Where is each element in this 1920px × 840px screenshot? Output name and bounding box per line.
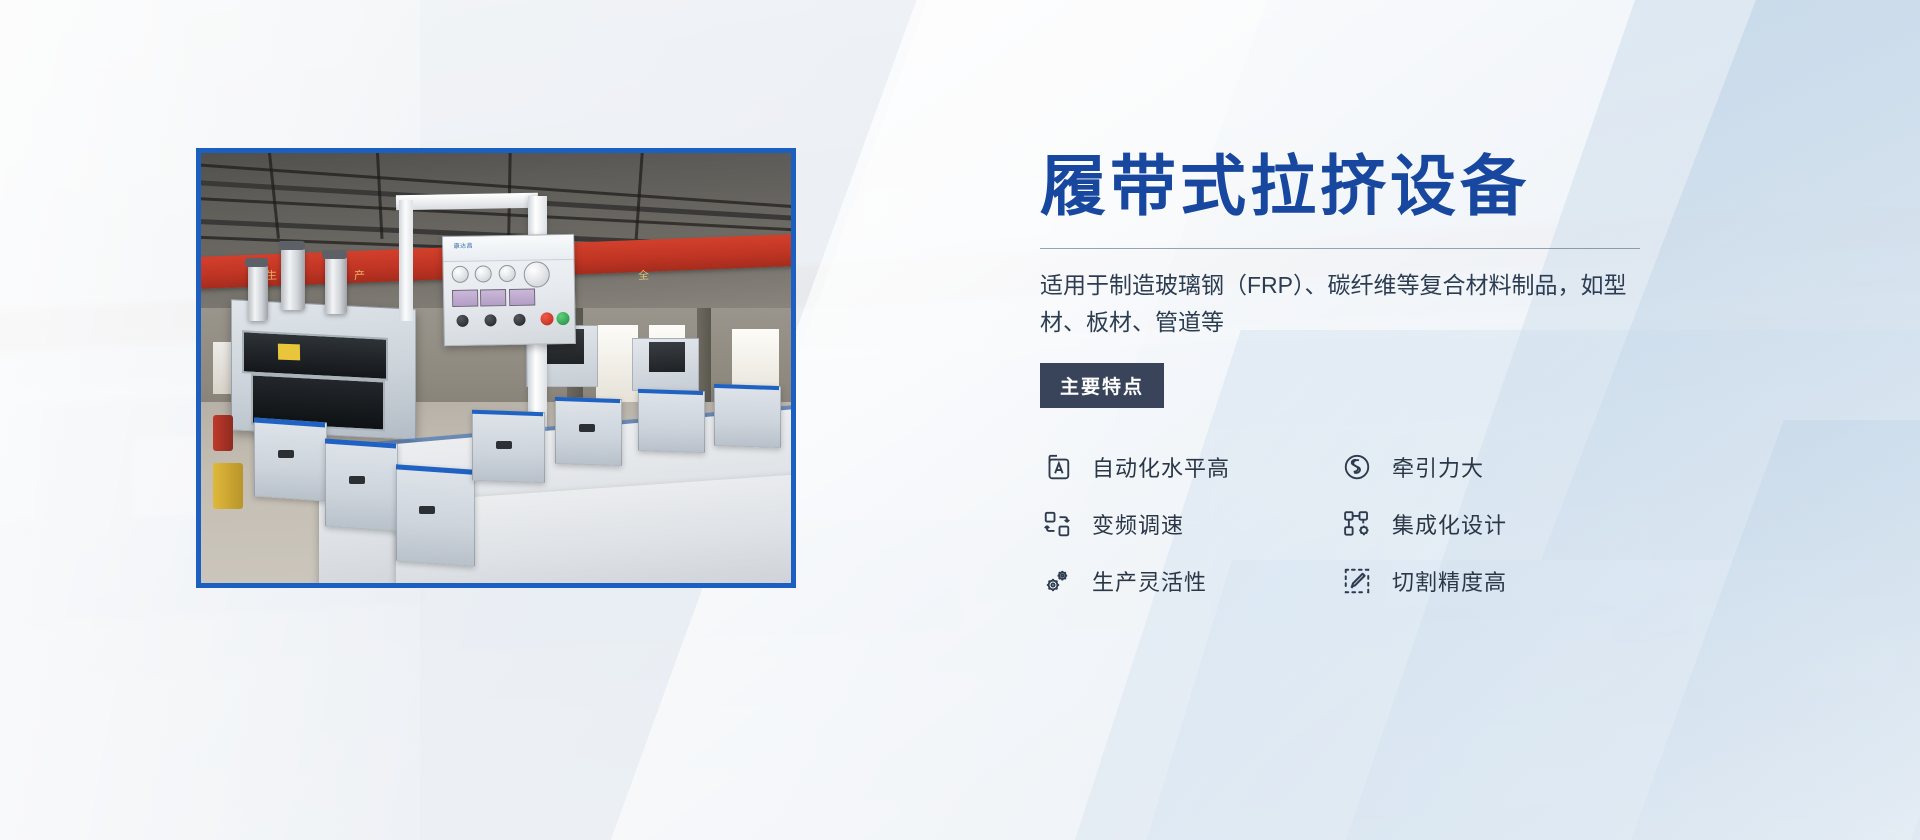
photo-gantry-post-left [399,200,413,320]
frequency-transform-icon [1040,507,1074,541]
title-divider [1040,248,1640,249]
photo-cabinet-7 [714,384,781,449]
bg-panel-3 [1459,720,1691,812]
panel-gauge-large [524,261,550,287]
bg-panel-2 [1690,593,1903,693]
control-panel-brand: 康达昌 [453,241,473,250]
feature-item-frequency: 变频调速 [1040,495,1340,552]
photo-gantry-beam [396,193,538,210]
photo-yellow-container [213,463,243,509]
panel-gauge-3 [498,265,515,282]
product-photo-frame: 生 产 安 全 [196,148,796,588]
panel-gauge-2 [475,265,492,282]
photo-cabinet-5-handle [579,424,595,432]
panel-meter-2 [480,288,506,305]
banner-subtitle: 适用于制造玻璃钢（FRP）、碳纤维等复合材料制品，如型材、板材、管道等 [1040,267,1640,342]
feature-item-automation: 自动化水平高 [1040,438,1340,495]
feature-item-traction: 牵引力大 [1340,438,1640,495]
status-badge: 主要特点 [1040,363,1164,408]
feature-item-flexibility: 生产灵活性 [1040,552,1340,609]
crane-beam-char-2: 产 [354,267,366,283]
photo-cabinet-6 [638,388,705,453]
panel-meter-1 [452,289,478,306]
feature-label: 牵引力大 [1392,451,1484,483]
panel-knob-1 [456,315,468,327]
panel-stop-button [540,312,553,325]
photo-cylinder-cap-1 [245,258,268,267]
photo-cabinet-2 [325,439,398,532]
feature-label: 集成化设计 [1392,508,1507,540]
photo-warning-label [278,344,300,361]
panel-knob-3 [513,314,525,326]
photo-cabinet-1-handle [278,450,294,458]
photo-cabinet-2-handle [349,476,365,484]
feature-label: 生产灵活性 [1092,565,1207,597]
feature-item-integrated: 集成化设计 [1340,495,1640,552]
photo-cylinder-2 [281,248,305,310]
precision-pen-dashed-icon [1340,564,1374,598]
photo-cylinder-cap-3 [322,250,347,259]
product-photo: 生 产 安 全 [201,153,791,583]
photo-cylinder-cap-2 [278,241,305,250]
panel-gauge-1 [451,265,468,282]
integrated-node-gear-icon [1340,507,1374,541]
photo-cabinet-3-handle [419,506,435,514]
feature-label: 自动化水平高 [1092,451,1230,483]
banner-content: 履带式拉挤设备 适用于制造玻璃钢（FRP）、碳纤维等复合材料制品，如型材、板材、… [1040,150,1700,609]
photo-cylinder-3 [325,256,347,314]
product-banner: 生 产 安 全 [0,0,1920,840]
crane-beam-char-4: 全 [637,267,649,283]
panel-meter-3 [509,288,535,305]
double-gears-icon [1040,564,1074,598]
photo-cabinet-3 [396,464,475,566]
panel-knob-2 [485,314,497,326]
photo-control-panel: 康达昌 [442,234,576,346]
photo-cabinet-4-handle [496,441,512,449]
panel-start-button [556,312,569,325]
photo-red-container [213,415,233,451]
photo-cabinet-1 [254,417,327,501]
feature-item-precision: 切割精度高 [1340,552,1640,609]
photo-machine-window-1 [242,330,388,380]
page-title: 履带式拉挤设备 [1040,150,1700,224]
feature-label: 变频调速 [1092,508,1184,540]
feature-label: 切割精度高 [1392,565,1507,597]
photo-bg-darkbox-2 [649,342,684,372]
feature-list: 自动化水平高 牵引力大 [1040,438,1700,609]
automation-square-a-icon [1040,450,1074,484]
traction-circle-icon [1340,450,1374,484]
photo-cylinder-1 [248,265,268,321]
